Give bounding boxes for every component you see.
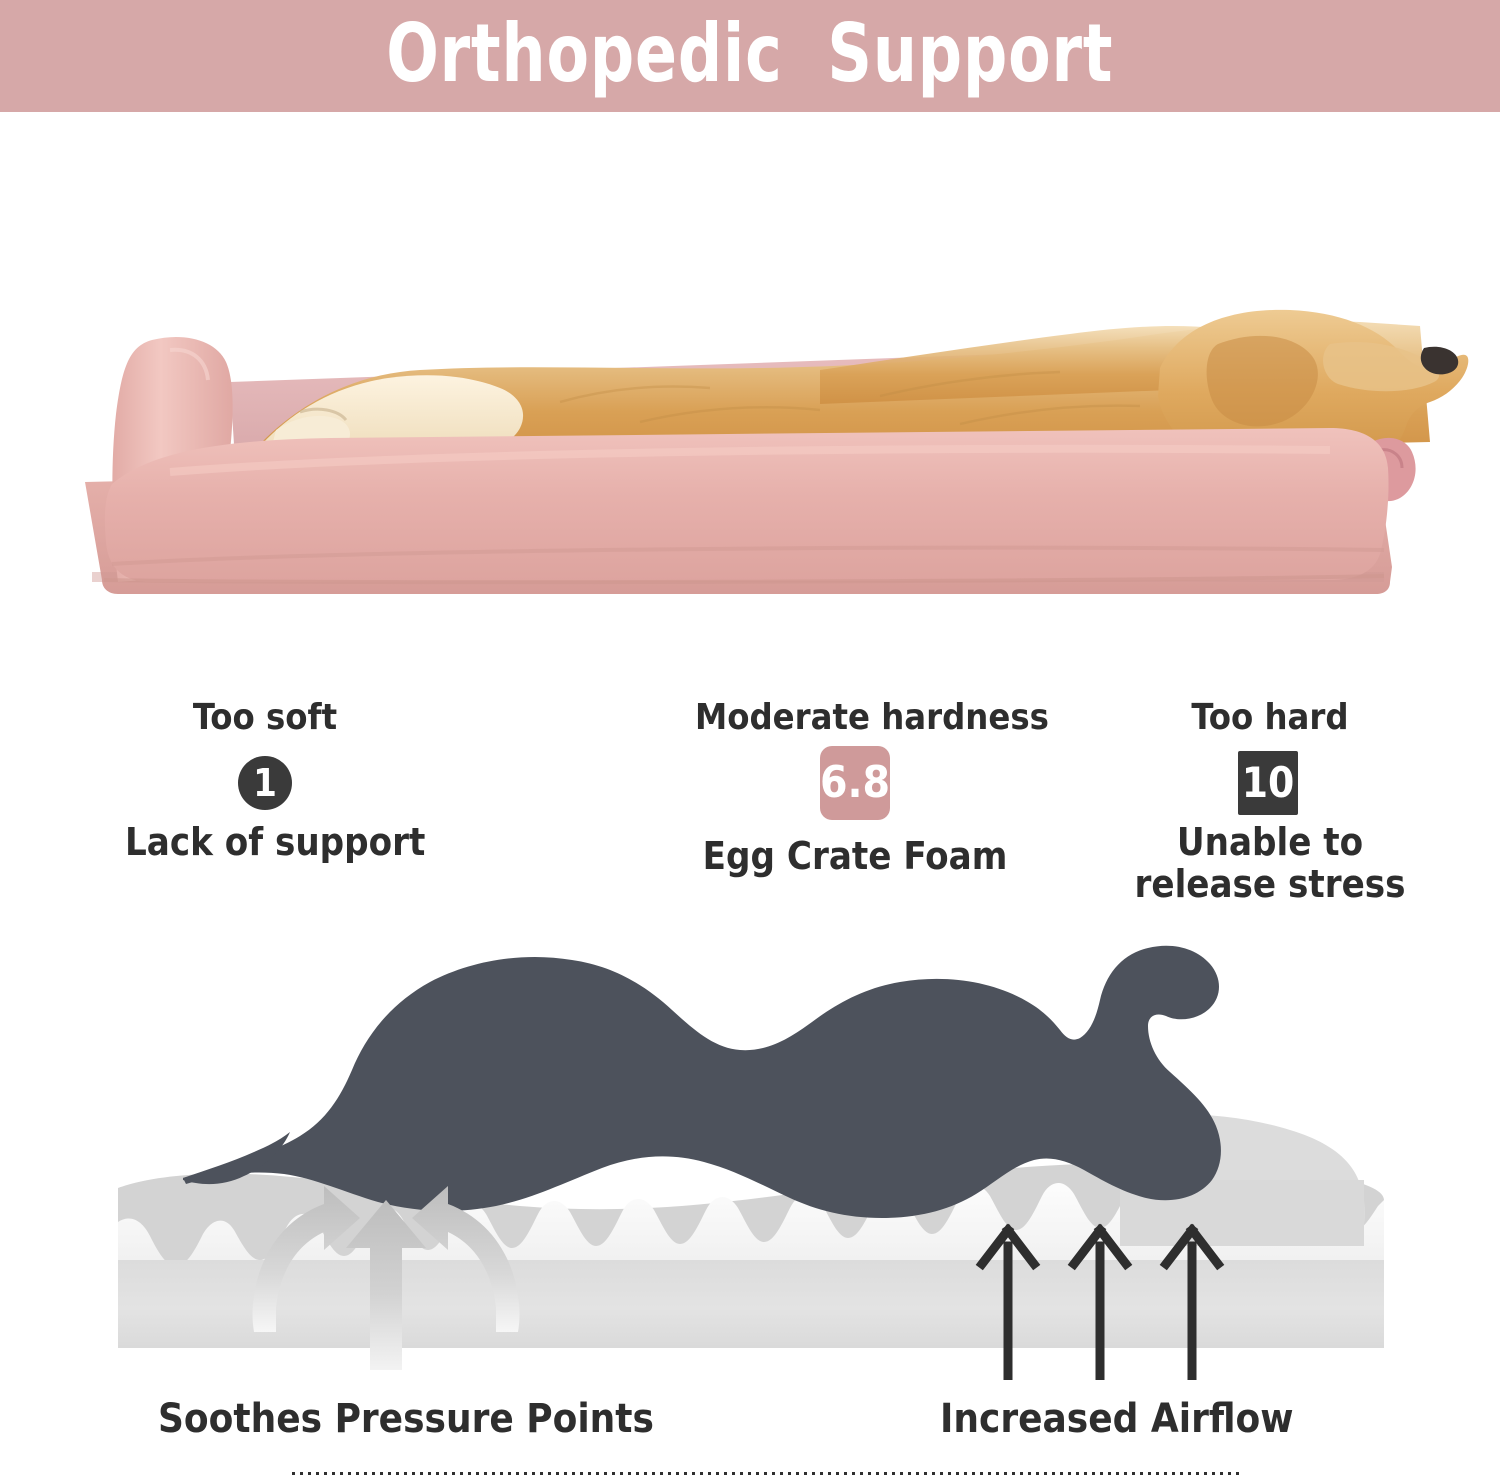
foam-diagram — [0, 930, 1500, 1380]
scale-badge-value: 1 — [253, 764, 277, 802]
header-banner: Orthopedic Support — [0, 0, 1500, 112]
scale-bottom-label: Egg Crate Foam — [695, 836, 1015, 878]
bed-bolster-front — [105, 428, 1389, 582]
page-title: Orthopedic Support — [386, 14, 1113, 94]
scale-bottom-too-soft: Lack of support — [125, 822, 405, 864]
scale-point-too-soft: Too soft — [125, 700, 405, 736]
scale-badge-value: 6.8 — [820, 761, 890, 805]
scale-badge-1: 1 — [238, 756, 292, 810]
scale-bottom-moderate: Egg Crate Foam — [695, 836, 1015, 878]
caption-soothes-pressure-points: Soothes Pressure Points — [158, 1399, 654, 1439]
scale-bottom-label-line2: release stress — [1130, 864, 1410, 906]
scale-point-moderate: Moderate hardness — [695, 700, 1015, 736]
scale-badge-6-8: 6.8 — [820, 746, 890, 820]
bottom-captions: Soothes Pressure Points Increased Airflo… — [0, 1385, 1500, 1450]
scale-dotted-line — [292, 1471, 1244, 1475]
scale-bottom-label-line1: Unable to — [1130, 822, 1410, 864]
scale-badge-value: 10 — [1242, 762, 1295, 804]
hardness-scale: Too soft 1 Lack of support Moderate hard… — [0, 690, 1500, 920]
scale-top-label: Too hard — [1130, 700, 1410, 736]
scale-badge-10: 10 — [1238, 751, 1298, 815]
product-photo — [0, 112, 1500, 672]
scale-top-label: Too soft — [125, 700, 405, 736]
scale-bottom-label: Lack of support — [125, 822, 405, 864]
caption-increased-airflow: Increased Airflow — [940, 1399, 1293, 1439]
scale-point-too-hard: Too hard — [1130, 700, 1410, 736]
scale-bottom-too-hard: Unable to release stress — [1130, 822, 1410, 906]
scale-top-label: Moderate hardness — [695, 700, 1015, 736]
